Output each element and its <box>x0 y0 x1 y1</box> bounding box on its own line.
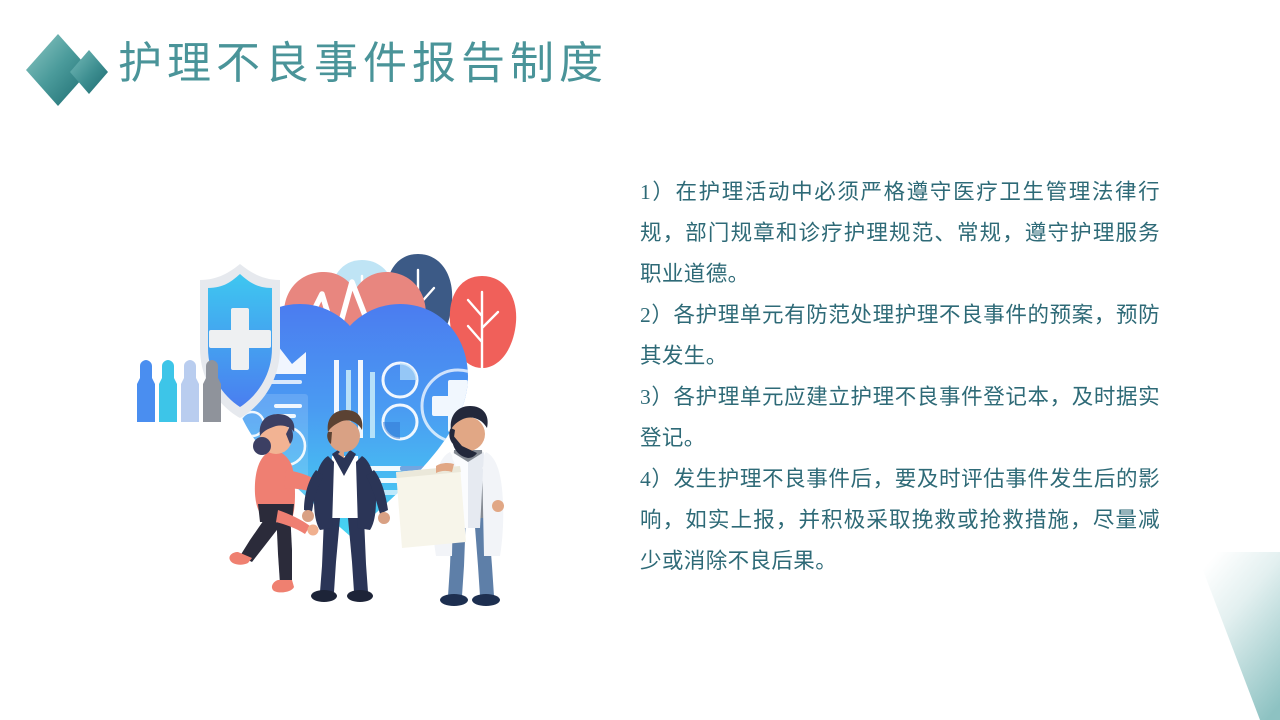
medical-teamwork-illustration <box>100 218 600 618</box>
body-copy-block: 1）在护理活动中必须严格遵守医疗卫生管理法律行规，部门规章和诊疗护理规范、常规，… <box>640 172 1160 582</box>
vial-blue <box>137 360 155 422</box>
document-sheet <box>396 466 466 548</box>
paragraph-3: 3）各护理单元应建立护理不良事件登记本，及时据实登记。 <box>640 377 1160 459</box>
paragraph-1: 1）在护理活动中必须严格遵守医疗卫生管理法律行规，部门规章和诊疗护理规范、常规，… <box>640 172 1160 295</box>
vial-cyan <box>159 360 177 422</box>
slide-root: 护理不良事件报告制度 <box>0 0 1280 720</box>
slide-header: 护理不良事件报告制度 <box>0 0 1280 130</box>
ampoule-vials <box>137 360 221 422</box>
vial-light-blue <box>181 360 199 422</box>
paragraph-2: 2）各护理单元有防范处理护理不良事件的预案，预防其发生。 <box>640 295 1160 377</box>
paragraph-4: 4）发生护理不良事件后，要及时评估事件发生后的影响，如实上报，并积极采取挽救或抢… <box>640 459 1160 582</box>
page-title: 护理不良事件报告制度 <box>118 38 608 90</box>
diamond-logo-icon <box>22 28 110 112</box>
